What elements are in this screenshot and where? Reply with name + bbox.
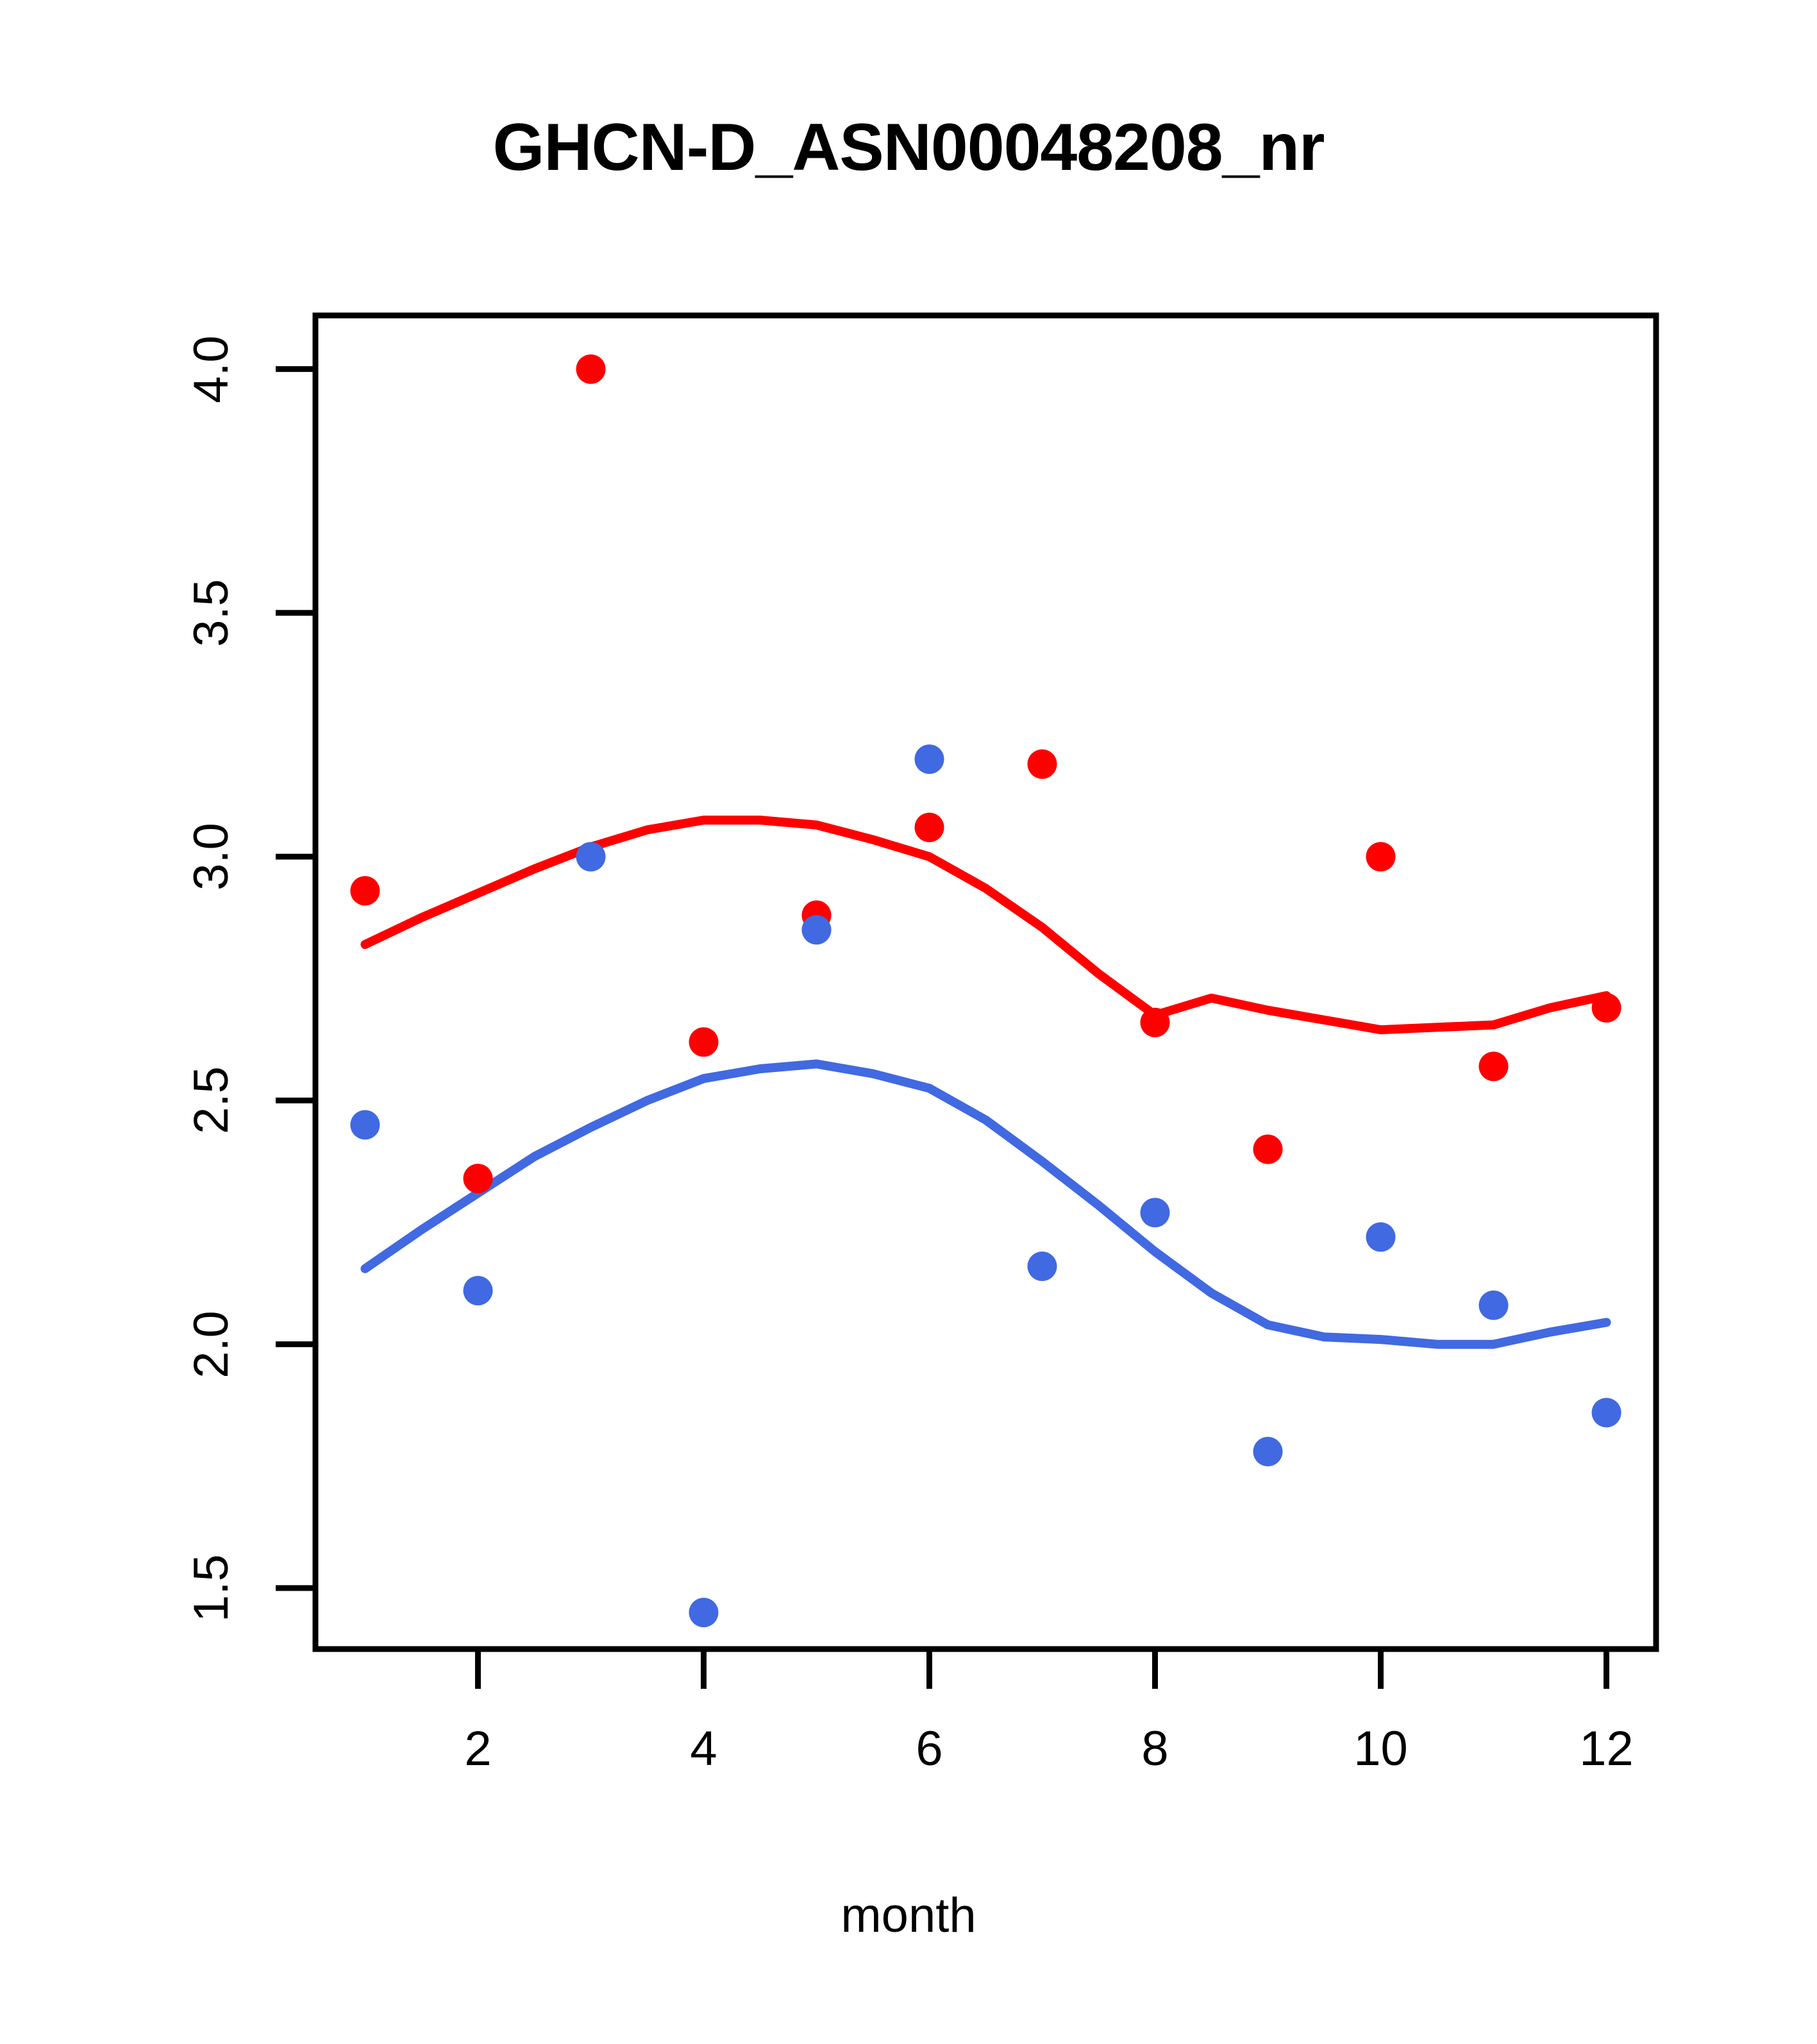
data-point-blue-points [350, 1110, 380, 1139]
y-tick-label: 4.0 [187, 305, 236, 433]
data-point-red-points [464, 1164, 493, 1193]
x-tick-label: 2 [464, 1725, 491, 1773]
x-axis-title: month [0, 1891, 1817, 1940]
data-point-blue-points [576, 842, 606, 871]
data-point-red-points [689, 1027, 719, 1057]
data-point-blue-points [1141, 1198, 1170, 1227]
y-tick-label: 1.5 [187, 1524, 236, 1652]
x-tick-label: 4 [690, 1725, 717, 1773]
y-tick-label: 3.5 [187, 549, 236, 677]
data-point-red-points [350, 876, 380, 905]
data-point-red-points [1366, 842, 1396, 871]
y-tick-label: 3.0 [187, 792, 236, 921]
y-axis-ticks [276, 369, 315, 1588]
trend-line-red-smooth [365, 820, 1606, 1030]
data-point-blue-points [1253, 1437, 1283, 1466]
data-point-red-points [1028, 750, 1057, 779]
data-points [350, 355, 1621, 1627]
data-point-red-points [576, 355, 606, 384]
x-tick-label: 12 [1579, 1725, 1634, 1773]
data-point-blue-points [1028, 1252, 1057, 1281]
data-point-red-points [915, 813, 944, 842]
y-tick-label: 2.0 [187, 1280, 236, 1409]
data-point-blue-points [1479, 1291, 1509, 1320]
data-point-blue-points [1592, 1398, 1621, 1427]
data-point-blue-points [915, 744, 944, 774]
trend-line-blue-smooth [365, 1064, 1606, 1344]
x-tick-label: 10 [1353, 1725, 1408, 1773]
plot-frame [315, 315, 1656, 1649]
x-axis-ticks [478, 1649, 1606, 1689]
chart-canvas: GHCN-D_ASN00048208_nr 24681012 4.03.53.0… [0, 0, 1817, 2044]
data-point-blue-points [689, 1598, 719, 1627]
data-point-red-points [1479, 1051, 1509, 1081]
data-point-blue-points [1366, 1222, 1396, 1252]
x-tick-label: 8 [1141, 1725, 1168, 1773]
data-point-red-points [1592, 993, 1621, 1023]
data-point-red-points [1253, 1135, 1283, 1164]
y-tick-label: 2.5 [187, 1036, 236, 1164]
plot-area [0, 0, 1817, 2044]
x-tick-label: 6 [916, 1725, 942, 1773]
data-point-blue-points [802, 915, 832, 944]
data-point-red-points [1141, 1008, 1170, 1037]
data-point-blue-points [464, 1276, 493, 1305]
trend-lines [365, 820, 1606, 1345]
